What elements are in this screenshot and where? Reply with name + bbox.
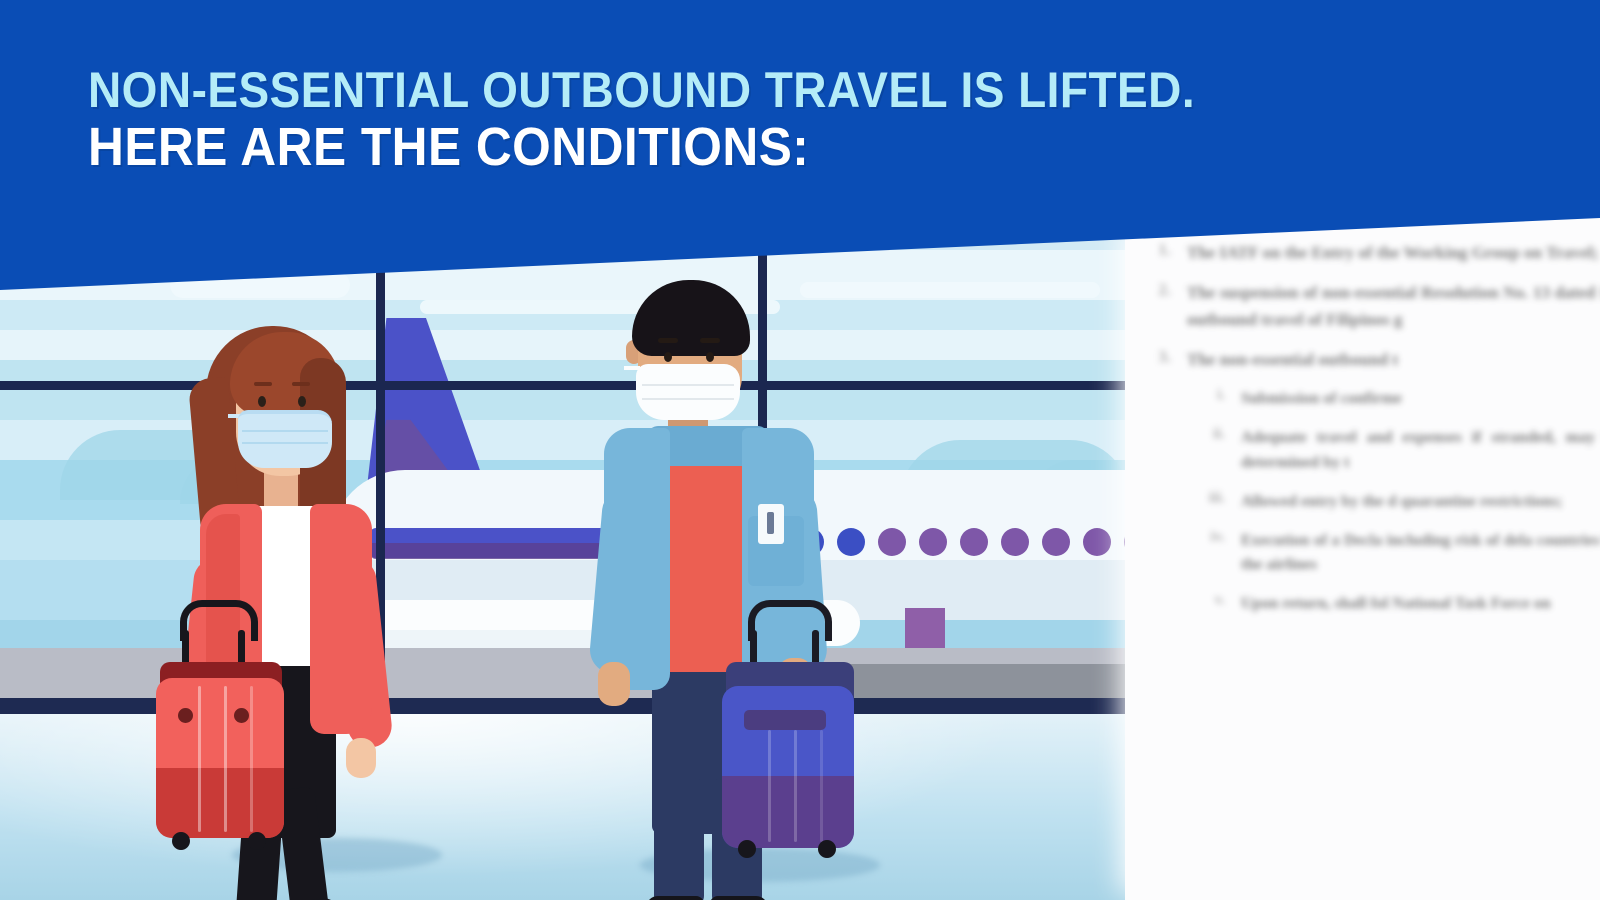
jacket-right-panel bbox=[310, 504, 372, 734]
suitcase-wheel bbox=[172, 832, 190, 850]
clause-text: Execution of a Decla including risk of d… bbox=[1241, 529, 1600, 579]
eyebrow-right bbox=[700, 338, 720, 343]
suitcase-rib bbox=[250, 686, 253, 832]
clause-text: The suspension of non-essential Resoluti… bbox=[1187, 280, 1600, 333]
suitcase-rib bbox=[794, 730, 797, 842]
clause-text: The non-essential outbound t bbox=[1187, 347, 1600, 373]
suitcase-shell-shade bbox=[156, 768, 284, 838]
clause-text: Allowed entry by the d quarantine restri… bbox=[1241, 490, 1600, 515]
banner-title-block: NON-ESSENTIAL OUTBOUND TRAVEL IS LIFTED.… bbox=[88, 66, 1508, 174]
banner-headline-line1: NON-ESSENTIAL OUTBOUND TRAVEL IS LIFTED. bbox=[88, 66, 1394, 114]
clause-marker: iii. bbox=[1183, 490, 1241, 507]
suitcase-blue bbox=[718, 600, 858, 850]
document-clause-item: 2.The suspension of non-essential Resolu… bbox=[1125, 280, 1600, 333]
mask-pleat bbox=[642, 398, 734, 400]
suitcase-wheel bbox=[248, 832, 266, 850]
document-clause-item: 3.The non-essential outbound t bbox=[1125, 347, 1600, 373]
eyebrow-right bbox=[292, 382, 310, 386]
hand-right bbox=[346, 738, 376, 778]
shoe-right bbox=[710, 896, 768, 900]
hair bbox=[632, 280, 750, 356]
suitcase-rib bbox=[768, 730, 771, 842]
clause-text: The IATF on the Entry of the Working Gro… bbox=[1187, 240, 1600, 266]
infographic-banner: 1.The IATF on the Entry of the Working G… bbox=[0, 0, 1600, 900]
clause-text: Adequate travel and expenses if stranded… bbox=[1241, 426, 1600, 476]
clause-text: Upon return, shall fol National Task For… bbox=[1241, 592, 1600, 617]
eyebrow-left bbox=[658, 338, 678, 343]
shoe-left bbox=[646, 896, 704, 900]
leg-left bbox=[654, 778, 704, 900]
document-clause-item: iii.Allowed entry by the d quarantine re… bbox=[1125, 490, 1600, 515]
eye-right bbox=[298, 396, 306, 407]
suitcase-handle-knob bbox=[178, 708, 193, 723]
document-clause-item: iv.Execution of a Decla including risk o… bbox=[1125, 529, 1600, 579]
banner-headline-line2: HERE ARE THE CONDITIONS: bbox=[88, 122, 1394, 174]
airplane-window bbox=[1042, 528, 1070, 556]
suitcase-handle-knob bbox=[234, 708, 249, 723]
mask-pleat bbox=[242, 430, 328, 432]
suitcase-handle-grip bbox=[748, 600, 832, 641]
eye-right bbox=[706, 352, 714, 362]
document-clause-item: 1.The IATF on the Entry of the Working G… bbox=[1125, 240, 1600, 266]
mask-pleat bbox=[642, 384, 734, 386]
mask-pleat bbox=[242, 442, 328, 444]
blurred-document-overlay: 1.The IATF on the Entry of the Working G… bbox=[1125, 218, 1600, 900]
hand-left bbox=[598, 662, 630, 706]
suitcase-wheel bbox=[738, 840, 756, 858]
airplane-window bbox=[960, 528, 988, 556]
clause-marker: 2. bbox=[1125, 280, 1187, 300]
airplane-window bbox=[1001, 528, 1029, 556]
eyebrow-left bbox=[254, 382, 272, 386]
suitcase-rib bbox=[198, 686, 201, 832]
clause-marker: 1. bbox=[1125, 240, 1187, 260]
airplane-window bbox=[878, 528, 906, 556]
suitcase-rib bbox=[820, 730, 823, 842]
suitcase-rib bbox=[224, 686, 227, 832]
document-clause-item: v.Upon return, shall fol National Task F… bbox=[1125, 592, 1600, 617]
clause-marker: 3. bbox=[1125, 347, 1187, 367]
airplane-window bbox=[837, 528, 865, 556]
clause-marker: i. bbox=[1183, 387, 1241, 404]
face-mask-icon bbox=[238, 410, 332, 468]
face-mask-icon bbox=[636, 364, 740, 420]
clause-marker: iv. bbox=[1183, 529, 1241, 546]
clause-marker: v. bbox=[1183, 592, 1241, 609]
eye-left bbox=[258, 396, 266, 407]
airplane-window bbox=[919, 528, 947, 556]
boarding-pass-icon bbox=[758, 504, 784, 544]
clause-text: Submission of confirme bbox=[1241, 387, 1600, 412]
airplane-window bbox=[1083, 528, 1111, 556]
document-clause-item: ii.Adequate travel and expenses if stran… bbox=[1125, 426, 1600, 476]
suitcase-handle-grip bbox=[180, 600, 258, 641]
suitcase-handle-plate bbox=[744, 710, 826, 730]
cloud-shape bbox=[800, 282, 1100, 298]
document-clause-list: 1.The IATF on the Entry of the Working G… bbox=[1125, 218, 1600, 631]
jacket-left-panel bbox=[604, 428, 670, 690]
document-clause-item: i.Submission of confirme bbox=[1125, 387, 1600, 412]
clause-marker: ii. bbox=[1183, 426, 1241, 443]
eye-left bbox=[664, 352, 672, 362]
suitcase-shell-shade bbox=[722, 776, 854, 848]
suitcase-wheel bbox=[818, 840, 836, 858]
suitcase-red bbox=[150, 600, 290, 850]
